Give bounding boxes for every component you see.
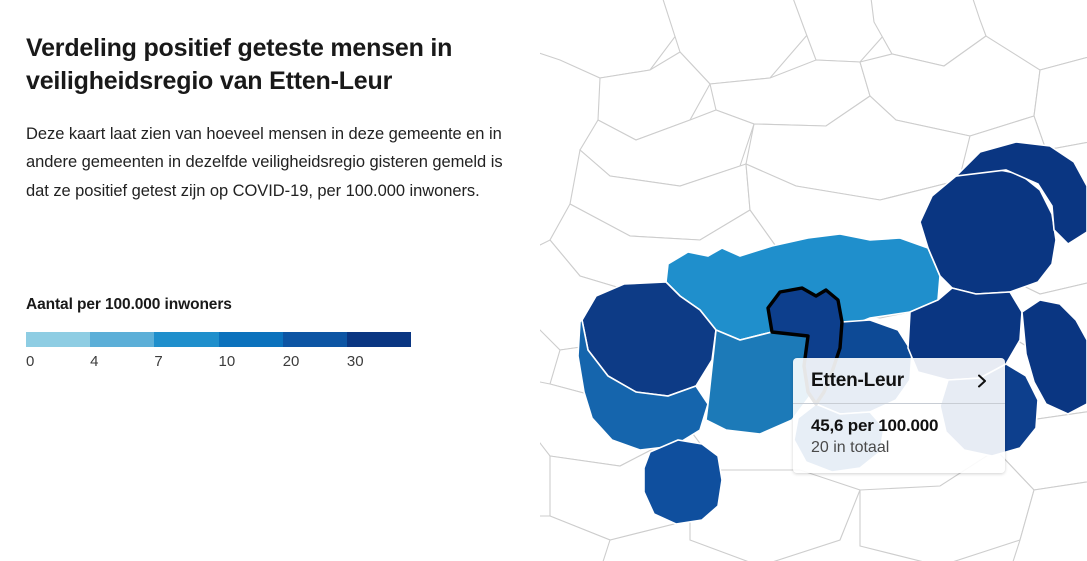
legend-swatch-1 bbox=[90, 332, 154, 347]
info-panel: Verdeling positief geteste mensen in vei… bbox=[0, 0, 540, 561]
choropleth-map[interactable]: Etten-Leur 45,6 per 100.000 20 in totaal bbox=[540, 0, 1087, 561]
legend-swatch-4 bbox=[283, 332, 347, 347]
region-tooltip[interactable]: Etten-Leur 45,6 per 100.000 20 in totaal bbox=[793, 358, 1005, 473]
page-title: Verdeling positief geteste mensen in vei… bbox=[26, 26, 496, 98]
tooltip-body: 45,6 per 100.000 20 in totaal bbox=[793, 404, 1005, 473]
map-svg[interactable] bbox=[540, 0, 1087, 561]
legend-color-bar bbox=[26, 332, 411, 347]
legend: Aantal per 100.000 inwoners 0 4 7 10 20 … bbox=[26, 296, 426, 370]
tooltip-region-name: Etten-Leur bbox=[811, 370, 904, 392]
legend-swatch-0 bbox=[26, 332, 90, 347]
legend-tick-2: 7 bbox=[154, 353, 218, 370]
legend-tick-4: 20 bbox=[283, 353, 347, 370]
legend-title: Aantal per 100.000 inwoners bbox=[26, 296, 426, 314]
legend-tick-3: 10 bbox=[219, 353, 283, 370]
covid-region-map-page: Verdeling positief geteste mensen in vei… bbox=[0, 0, 1087, 561]
chevron-right-icon[interactable] bbox=[975, 374, 989, 388]
legend-swatch-3 bbox=[219, 332, 283, 347]
legend-tick-5: 30 bbox=[347, 353, 411, 370]
tooltip-header[interactable]: Etten-Leur bbox=[793, 358, 1005, 404]
legend-swatch-5 bbox=[347, 332, 411, 347]
tooltip-rate-value: 45,6 per 100.000 bbox=[811, 415, 987, 436]
legend-tick-1: 4 bbox=[90, 353, 154, 370]
legend-tick-0: 0 bbox=[26, 353, 90, 370]
legend-tick-labels: 0 4 7 10 20 30 bbox=[26, 353, 411, 370]
intro-paragraph: Deze kaart laat zien van hoeveel mensen … bbox=[26, 98, 514, 205]
tooltip-total-value: 20 in totaal bbox=[811, 436, 987, 459]
legend-swatch-2 bbox=[154, 332, 218, 347]
region-lower-west[interactable] bbox=[644, 440, 722, 524]
